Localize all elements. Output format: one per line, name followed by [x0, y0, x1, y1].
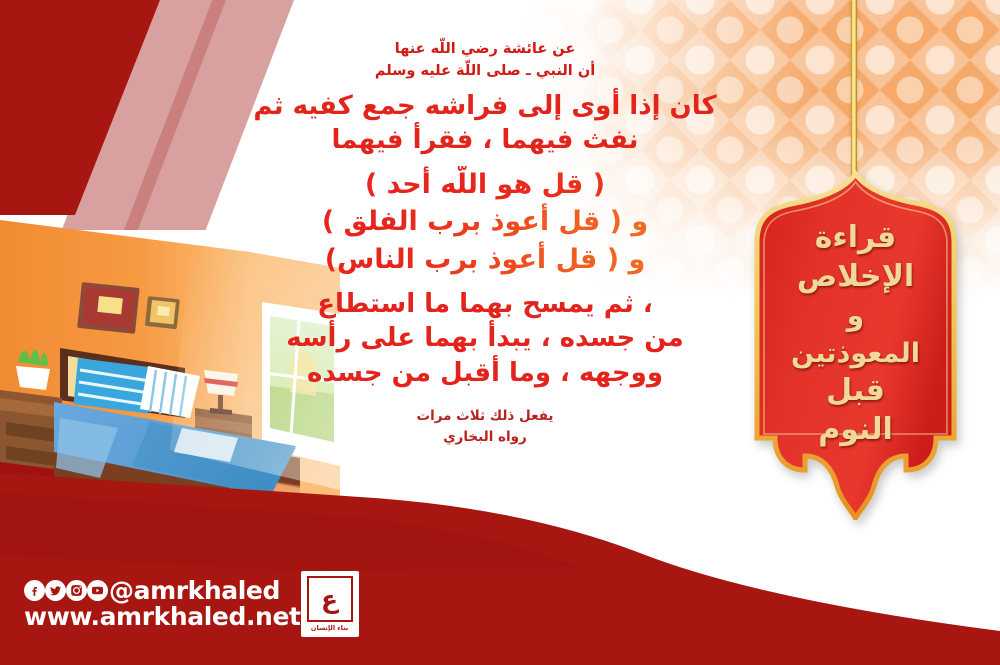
quran-verse: و ( قل أعوذ برب الناس) [215, 241, 755, 279]
hadith-body-bottom: ، ثم يمسح بهما ما استطاع من جسده ، يبدأ … [215, 287, 755, 390]
logo-calligraphy-mark: ع [307, 576, 353, 622]
brand-contact-block: @amrkhaled www.amrkhaled.net [24, 578, 301, 630]
youtube-icon[interactable] [87, 580, 108, 601]
hadith-line: نفث فيهما ، فقرأ فيهما [215, 123, 755, 157]
hadith-source: رواه البخاري [215, 427, 755, 449]
logo-subtitle: بناء الإنسان [311, 624, 348, 632]
quran-verse: و ( قل أعوذ برب الفلق ) [215, 203, 755, 241]
hadith-text-block: عن عائشة رضي اللّه عنها أن النبي ـ صلى ا… [215, 38, 755, 449]
repetition-note: يفعل ذلك ثلاث مرات [215, 406, 755, 428]
quran-verse-list: ( قل هو اللّه أحد ) و ( قل أعوذ برب الفل… [215, 166, 755, 279]
title-badge: قراءة الإخلاص و المعوذتين قبل النوم [748, 170, 963, 520]
narrator-attribution: عن عائشة رضي اللّه عنها أن النبي ـ صلى ا… [215, 38, 755, 83]
narrator-line-2: أن النبي ـ صلى اللّة عليه وسلم [215, 60, 755, 82]
facebook-icon[interactable] [24, 580, 45, 601]
hadith-source-block: يفعل ذلك ثلاث مرات رواه البخاري [215, 406, 755, 449]
logo-glyph: ع [321, 587, 338, 612]
social-handle[interactable]: @amrkhaled [109, 578, 280, 603]
twitter-icon[interactable] [45, 580, 66, 601]
narrator-line-1: عن عائشة رضي اللّه عنها [215, 38, 755, 60]
hadith-line: من جسده ، يبدأ بهما على رأسه [215, 321, 755, 355]
hadith-line: كان إذا أوى إلى فراشه جمع كفيه ثم [215, 89, 755, 123]
organization-logo: ع بناء الإنسان [301, 571, 359, 637]
website-url[interactable]: www.amrkhaled.net [24, 604, 301, 630]
hadith-body-top: كان إذا أوى إلى فراشه جمع كفيه ثم نفث في… [215, 89, 755, 158]
instagram-icon[interactable] [66, 580, 87, 601]
islamic-hadith-poster: عن عائشة رضي اللّه عنها أن النبي ـ صلى ا… [0, 0, 1000, 665]
hadith-line: ، ثم يمسح بهما ما استطاع [215, 287, 755, 321]
footer-branding: ع بناء الإنسان @amrkhaled www.am [24, 571, 359, 637]
hadith-line: ووجهه ، وما أقبل من جسده [215, 356, 755, 390]
social-handle-row: @amrkhaled [24, 578, 301, 603]
quran-verse: ( قل هو اللّه أحد ) [215, 166, 755, 204]
